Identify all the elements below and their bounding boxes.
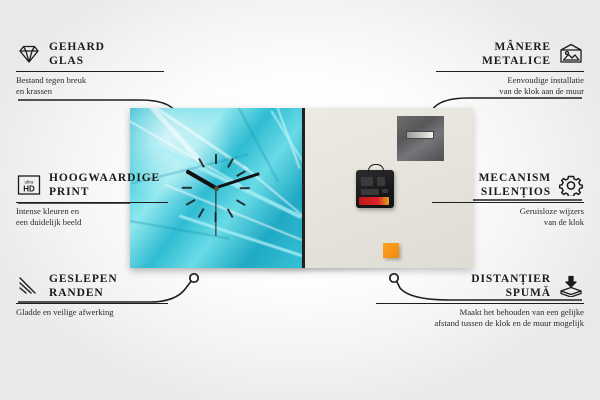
feature-manere-metalice: MÂNERE METALICE Eenvoudige installatie v… bbox=[436, 40, 584, 96]
divider bbox=[16, 303, 168, 304]
hanger-slot bbox=[406, 131, 434, 139]
feature-title: MÂNERE METALICE bbox=[482, 40, 551, 68]
beveled-edges-icon bbox=[16, 275, 42, 297]
diamond-icon bbox=[16, 43, 42, 65]
ultra-hd-icon: ultra HD bbox=[16, 174, 42, 196]
feature-hoogwaardige-print: ultra HD HOOGWAARDIGE PRINT Intense kleu… bbox=[16, 171, 168, 227]
svg-text:HD: HD bbox=[23, 184, 35, 193]
hand-center-cap bbox=[214, 186, 219, 191]
foam-spacer-icon bbox=[558, 275, 584, 297]
mechanism-detail bbox=[377, 177, 385, 186]
infographic-canvas: GEHARD GLAS Bestand tegen breuk en krass… bbox=[0, 0, 600, 400]
divider bbox=[16, 71, 164, 72]
feature-title: MECANISM SILENȚIOS bbox=[479, 171, 551, 199]
metal-wall-hanger-icon bbox=[397, 116, 444, 161]
feature-title: HOOGWAARDIGE PRINT bbox=[49, 171, 160, 199]
feature-geslepen-randen: GESLEPEN RANDEN Gladde en veilige afwerk… bbox=[16, 272, 168, 318]
feature-subtitle: Bestand tegen breuk en krassen bbox=[16, 75, 164, 96]
feature-title: GESLEPEN RANDEN bbox=[49, 272, 118, 300]
feature-title: DISTANȚIER SPUMĂ bbox=[471, 272, 551, 300]
mechanism-hanging-loop bbox=[368, 164, 384, 173]
feature-subtitle: Gladde en veilige afwerking bbox=[16, 307, 168, 318]
divider bbox=[16, 202, 168, 203]
feature-gehard-glas: GEHARD GLAS Bestand tegen breuk en krass… bbox=[16, 40, 164, 96]
aa-battery bbox=[359, 197, 389, 205]
feature-subtitle: Maakt het behouden van een gelijke afsta… bbox=[376, 307, 584, 328]
divider bbox=[436, 71, 584, 72]
orange-foam-spacer bbox=[383, 243, 399, 258]
feature-title: GEHARD GLAS bbox=[49, 40, 105, 68]
wall-mount-picture-icon bbox=[558, 43, 584, 65]
gear-icon bbox=[558, 174, 584, 196]
feature-subtitle: Eenvoudige installatie van de klok aan d… bbox=[436, 75, 584, 96]
mechanism-detail bbox=[382, 189, 388, 193]
divider bbox=[376, 303, 584, 304]
mechanism-detail bbox=[361, 189, 379, 195]
feature-subtitle: Geruisloze wijzers van de klok bbox=[432, 206, 584, 227]
feature-mecanism-silentios: MECANISM SILENȚIOS Geruisloze wijzers va… bbox=[432, 171, 584, 227]
feature-subtitle: Intense kleuren en een duidelijk beeld bbox=[16, 206, 168, 227]
mechanism-detail bbox=[361, 177, 373, 186]
clock-mechanism bbox=[356, 170, 394, 208]
feature-distantier-spuma: DISTANȚIER SPUMĂ Maakt het behouden van … bbox=[376, 272, 584, 328]
divider bbox=[432, 202, 584, 203]
